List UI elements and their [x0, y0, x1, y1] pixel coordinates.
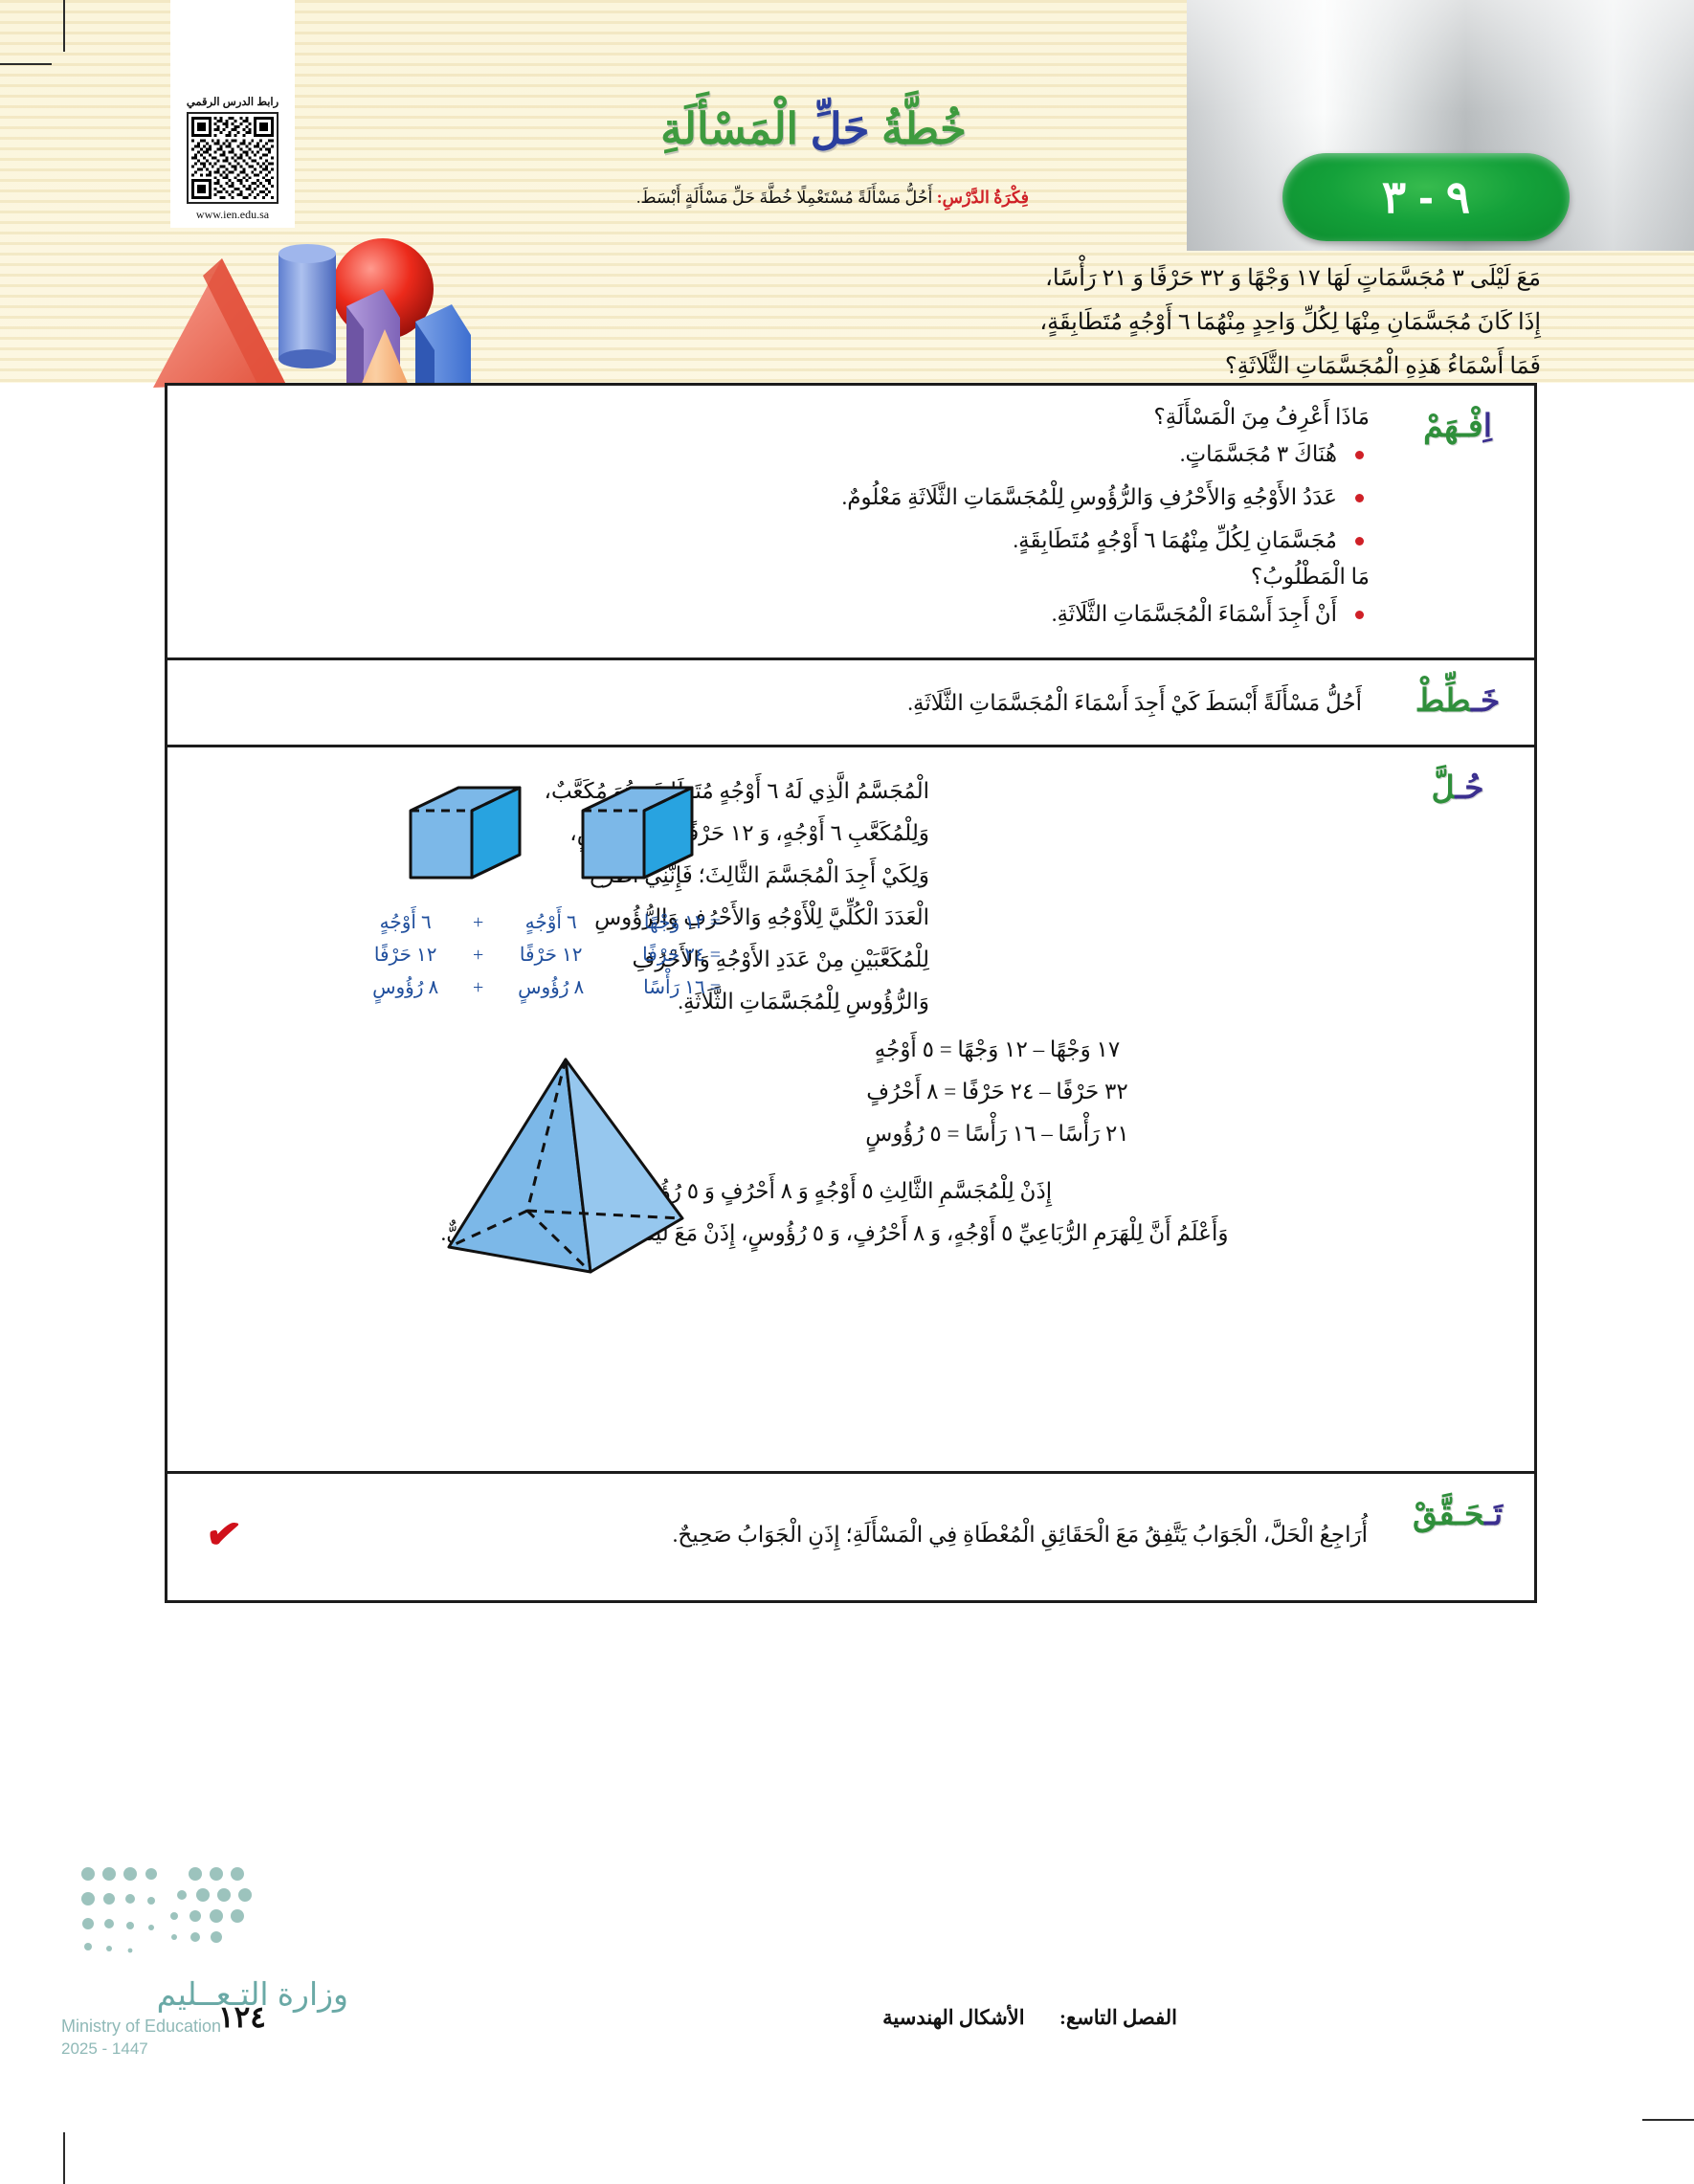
question-what-is-required: مَا الْمَطْلُوبُ؟ — [183, 565, 1385, 590]
step-body-check: أُرَاجِعُ الْحَلَّ، الْجَوَابُ يَتَّفِقُ… — [167, 1474, 1391, 1600]
title-word-1: خُطَّةُ — [881, 104, 967, 153]
step-label-check-part-a: تَـ — [1484, 1496, 1503, 1531]
chapter-label: الفصل التاسع: — [1059, 2006, 1177, 2029]
question-what-is-known: مَاذَا أَعْرِفُ مِنَ الْمَسْأَلَةِ؟ — [183, 405, 1385, 430]
list-item: عَدَدُ الأَوْجُهِ وَالأَحْرُفِ وَالرُّؤُ… — [183, 479, 1385, 517]
problem-statement: مَعَ لَيْلَى ٣ مُجَسَّمَاتٍ لَهَا ١٧ وَج… — [526, 256, 1541, 389]
step-label-understand: اِفْـهَمْ — [1391, 386, 1534, 657]
ministry-name-arabic: وزارة التـعــليم — [61, 1975, 348, 2013]
sum-operator: + — [454, 906, 502, 939]
equation-vertices: ٢١ رَأْسًا ‒ ١٦ رَأْسًا = ٥ رُؤُوسٍ — [619, 1113, 1375, 1155]
sum-operand-a: ٦ أَوْجُهٍ — [502, 906, 599, 939]
sum-result: = ١٢ وَجْهًا — [599, 906, 721, 939]
step-label-check-part-b: حَـقَّقْ — [1413, 1496, 1484, 1531]
sum-operand-b: ١٢ حَرْفًا — [357, 939, 454, 971]
title-word-2: حَلِّ — [811, 104, 870, 153]
list-item: مُجَسَّمَانِ لِكُلِّ مِنْهُمَا ٦ أَوْجُه… — [183, 522, 1385, 560]
page-number: ١٢٤ — [218, 2000, 266, 2035]
lesson-idea-label: فِكْرَةُ الدَّرْسِ: — [937, 188, 1029, 207]
sum-operand-a: ١٢ حَرْفًا — [502, 939, 599, 971]
sum-operator: + — [454, 939, 502, 971]
problem-line-2: إِذَا كَانَ مُجَسَّمَانِ مِنْهَا لِكُلِّ… — [526, 301, 1541, 345]
two-cubes-illustration — [403, 780, 719, 895]
ministry-of-education-logo: وزارة التـعــليم Ministry of Education 2… — [61, 1975, 348, 2059]
chapter-title: الأشكال الهندسية — [882, 2006, 1024, 2029]
plan-text: أَحُلُّ مَسْأَلَةً أَبْسَطَ كَيْ أَجِدَ … — [183, 676, 1385, 725]
step-row-check: تَـحَـقَّقْ أُرَاجِعُ الْحَلَّ، الْجَوَا… — [167, 1474, 1534, 1600]
table-row: = ١٢ وَجْهًا ٦ أَوْجُهٍ + ٦ أَوْجُهٍ — [357, 906, 721, 939]
step-row-understand: اِفْـهَمْ مَاذَا أَعْرِفُ مِنَ الْمَسْأَ… — [167, 386, 1534, 660]
check-mark-icon: ✔ — [203, 1512, 244, 1559]
page-title: خُطَّةُ حَلِّ الْمَسْأَلَةِ — [498, 103, 1129, 154]
sum-operand-b: ٨ رُؤُوسٍ — [357, 971, 454, 1004]
step-row-plan: خَـطِّطْ أَحُلُّ مَسْأَلَةً أَبْسَطَ كَي… — [167, 660, 1534, 747]
square-pyramid-illustration — [422, 1050, 709, 1289]
lesson-number-badge: ٩ - ٣ — [1282, 153, 1570, 241]
step-label-solve: حُـلَّ — [1391, 747, 1534, 1471]
step-label-solve-part-b: لَّ — [1431, 769, 1455, 805]
step-label-solve-part-a: حُـ — [1455, 769, 1483, 805]
known-facts-list: هُنَاكَ ٣ مُجَسَّمَاتٍ. عَدَدُ الأَوْجُه… — [183, 435, 1385, 560]
sum-result: = ١٦ رَأْسًا — [599, 971, 721, 1004]
step-label-plan-part-a: خَـ — [1471, 682, 1500, 718]
qr-code-icon[interactable] — [187, 112, 279, 204]
qr-url-label: www.ien.edu.sa — [196, 208, 269, 222]
ministry-dot-pattern — [75, 1857, 266, 1962]
list-item: أَنْ أَجِدَ أَسْمَاءَ الْمُجَسَّمَاتِ ال… — [183, 595, 1385, 634]
table-row: = ٢٤ حَرْفًا ١٢ حَرْفًا + ١٢ حَرْفًا — [357, 939, 721, 971]
cube-sums-table: = ١٢ وَجْهًا ٦ أَوْجُهٍ + ٦ أَوْجُهٍ = ٢… — [357, 906, 721, 1004]
ministry-name-english: Ministry of Education — [61, 2017, 348, 2037]
check-text: أُرَاجِعُ الْحَلَّ، الْجَوَابُ يَتَّفِقُ… — [241, 1523, 1368, 1548]
step-body-plan: أَحُلُّ مَسْأَلَةً أَبْسَطَ كَيْ أَجِدَ … — [167, 660, 1391, 745]
sum-operand-b: ٦ أَوْجُهٍ — [357, 906, 454, 939]
subtraction-equations: ١٧ وَجْهًا ‒ ١٢ وَجْهًا = ٥ أَوْجُهٍ ٣٢ … — [619, 1029, 1385, 1155]
equation-faces: ١٧ وَجْهًا ‒ ١٢ وَجْهًا = ٥ أَوْجُهٍ — [619, 1029, 1375, 1071]
step-label-plan-part-b: طِّطْ — [1415, 682, 1471, 718]
crop-mark-left-top — [0, 63, 52, 65]
step-body-understand: مَاذَا أَعْرِفُ مِنَ الْمَسْأَلَةِ؟ هُنَ… — [167, 386, 1391, 657]
crop-mark-bottom-left — [63, 2132, 65, 2184]
title-word-3: الْمَسْأَلَةِ — [660, 104, 798, 153]
equation-edges: ٣٢ حَرْفًا ‒ ٢٤ حَرْفًا = ٨ أَحْرُفٍ — [619, 1071, 1375, 1113]
crop-mark-bottom-right — [1642, 2119, 1694, 2121]
problem-line-1: مَعَ لَيْلَى ٣ مُجَسَّمَاتٍ لَهَا ١٧ وَج… — [526, 256, 1541, 301]
sum-operand-a: ٨ رُؤُوسٍ — [502, 971, 599, 1004]
table-row: = ١٦ رَأْسًا ٨ رُؤُوسٍ + ٨ رُؤُوسٍ — [357, 971, 721, 1004]
step-label-check: تَـحَـقَّقْ — [1391, 1474, 1534, 1600]
required-list: أَنْ أَجِدَ أَسْمَاءَ الْمُجَسَّمَاتِ ال… — [183, 595, 1385, 634]
step-row-solve: حُـلَّ — [167, 747, 1534, 1474]
list-item: هُنَاكَ ٣ مُجَسَّمَاتٍ. — [183, 435, 1385, 474]
step-body-solve: = ١٢ وَجْهًا ٦ أَوْجُهٍ + ٦ أَوْجُهٍ = ٢… — [167, 747, 1391, 1471]
step-label-understand-part-a: اِ — [1483, 408, 1492, 443]
sum-operator: + — [454, 971, 502, 1004]
sum-result: = ٢٤ حَرْفًا — [599, 939, 721, 971]
qr-caption: رابط الدرس الرقمي — [187, 95, 279, 108]
step-label-plan: خَـطِّطْ — [1391, 660, 1534, 745]
lesson-idea-text: أَحُلُّ مَسْأَلَةً مُسْتَعْمِلًا خُطَّةَ… — [636, 188, 932, 207]
chapter-footer: الفصل التاسع: الأشكال الهندسية — [882, 2006, 1177, 2030]
crop-mark-top-left — [63, 0, 65, 52]
problem-solving-plan-table: اِفْـهَمْ مَاذَا أَعْرِفُ مِنَ الْمَسْأَ… — [165, 383, 1537, 1603]
ministry-year: 2025 - 1447 — [61, 2039, 348, 2059]
lesson-idea: فِكْرَةُ الدَّرْسِ: أَحُلُّ مَسْأَلَةً م… — [469, 188, 1196, 208]
digital-lesson-link-card[interactable]: رابط الدرس الرقمي — [170, 0, 295, 228]
step-label-understand-part-b: فْـهَمْ — [1423, 408, 1483, 443]
